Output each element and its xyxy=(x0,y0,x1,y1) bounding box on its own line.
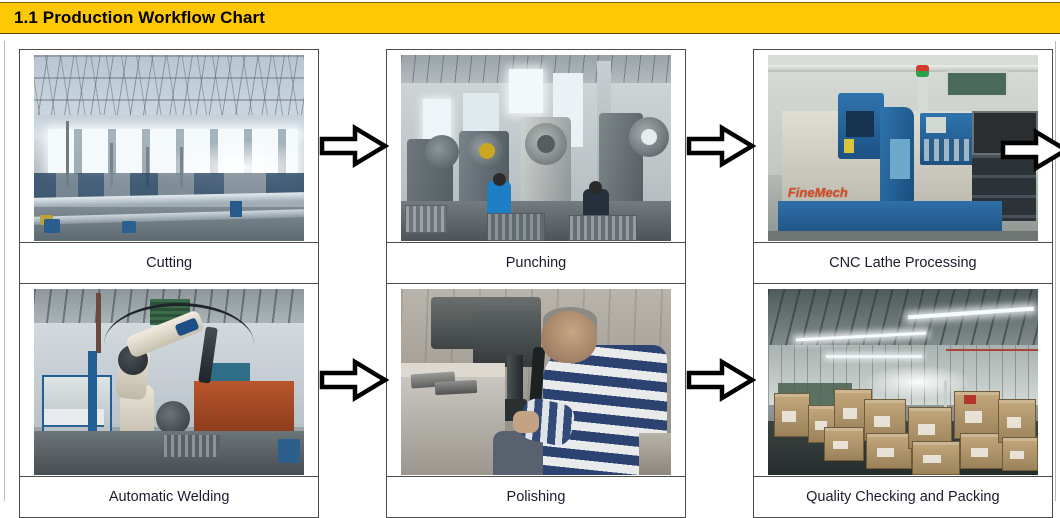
worker-head xyxy=(493,173,506,186)
floor xyxy=(768,231,1038,241)
workflow-arrow-2 xyxy=(686,50,754,243)
caption-automatic-welding: Automatic Welding xyxy=(20,477,319,518)
support-post xyxy=(96,293,101,353)
photo-automatic-welding xyxy=(34,289,304,475)
cnc-screen xyxy=(926,117,946,133)
parts-crate xyxy=(405,205,447,233)
metal-part xyxy=(435,379,478,394)
photo-cutting xyxy=(34,55,304,241)
page-title: 1.1 Production Workflow Chart xyxy=(14,8,265,28)
blue-drum xyxy=(44,219,60,233)
right-block-arrow-icon xyxy=(686,123,756,169)
blue-machine xyxy=(230,201,242,217)
workpiece-wheel xyxy=(156,401,190,435)
workflow-row-2-captions: Automatic Welding Polishing Quality Chec… xyxy=(20,477,1053,518)
machine-brand-logo: FineMech xyxy=(788,185,864,205)
spindle-head-panel xyxy=(846,111,874,137)
workflow-row-2-photos xyxy=(20,284,1053,477)
arrow-column-spacer xyxy=(686,243,754,284)
workflow-step-photo-cutting xyxy=(20,50,319,243)
workflow-arrow-4 xyxy=(686,284,754,477)
caption-cnc-lathe-processing: CNC Lathe Processing xyxy=(753,243,1052,284)
carton-box xyxy=(954,391,1000,439)
workflow-arrow-3 xyxy=(319,284,387,477)
blue-barrel xyxy=(278,439,300,463)
section-title-banner: 1.1 Production Workflow Chart xyxy=(0,2,1060,34)
red-label xyxy=(964,395,976,404)
flywheel-hub xyxy=(641,129,657,145)
carton-box xyxy=(912,441,960,475)
right-block-arrow-icon xyxy=(686,357,756,403)
arrow-column-spacer xyxy=(686,477,754,518)
right-block-arrow-icon xyxy=(319,123,389,169)
photo-cnc-lathe-processing: FineMech xyxy=(768,55,1038,241)
parts-grate xyxy=(164,435,220,457)
flywheel xyxy=(425,135,459,169)
carton-box xyxy=(866,433,912,469)
production-workflow-table: FineMech Cutting Punching CNC Lathe Proc… xyxy=(19,49,1053,518)
caption-quality-checking-and-packing: Quality Checking and Packing xyxy=(753,477,1052,518)
teal-equipment xyxy=(206,363,250,381)
flywheel-hub xyxy=(537,135,555,153)
workflow-step-photo-automatic-welding xyxy=(20,284,319,477)
warning-label xyxy=(844,139,854,153)
worker-hand xyxy=(513,411,539,433)
worker-head xyxy=(589,181,602,194)
concrete-block xyxy=(639,433,671,475)
worker-blue-shirt xyxy=(487,181,511,217)
parts-crate xyxy=(487,213,545,241)
arrow-column-spacer xyxy=(319,477,387,518)
carton-box xyxy=(824,427,864,461)
workflow-step-photo-quality-checking xyxy=(753,284,1052,477)
guard-window xyxy=(890,139,910,179)
photo-quality-checking-and-packing xyxy=(768,289,1038,475)
orange-container xyxy=(194,381,294,433)
strip-light xyxy=(826,355,922,358)
workflow-step-photo-polishing xyxy=(386,284,685,477)
caption-cutting: Cutting xyxy=(20,243,319,284)
photo-polishing xyxy=(401,289,671,475)
arrow-column-spacer xyxy=(319,243,387,284)
workflow-row-1-photos: FineMech xyxy=(20,50,1053,243)
carton-box xyxy=(1002,437,1038,471)
caption-polishing: Polishing xyxy=(386,477,685,518)
window xyxy=(946,71,1008,97)
workflow-row-1-captions: Cutting Punching CNC Lathe Processing xyxy=(20,243,1053,284)
signal-mast xyxy=(918,71,928,115)
right-block-arrow-icon xyxy=(319,357,389,403)
workflow-arrow-1 xyxy=(319,50,387,243)
parts-crate xyxy=(569,215,637,241)
caption-punching: Punching xyxy=(386,243,685,284)
wall-stripe xyxy=(946,349,1038,351)
worker-head xyxy=(541,311,597,363)
window xyxy=(509,69,543,113)
flywheel-hub xyxy=(479,143,495,159)
right-block-arrow-icon-edge xyxy=(1000,127,1060,173)
blue-drum xyxy=(122,221,136,233)
cnc-keypad xyxy=(924,139,972,161)
workflow-step-photo-punching xyxy=(386,50,685,243)
carton-box xyxy=(774,393,810,437)
photo-punching xyxy=(401,55,671,241)
status-lamp xyxy=(916,65,929,77)
